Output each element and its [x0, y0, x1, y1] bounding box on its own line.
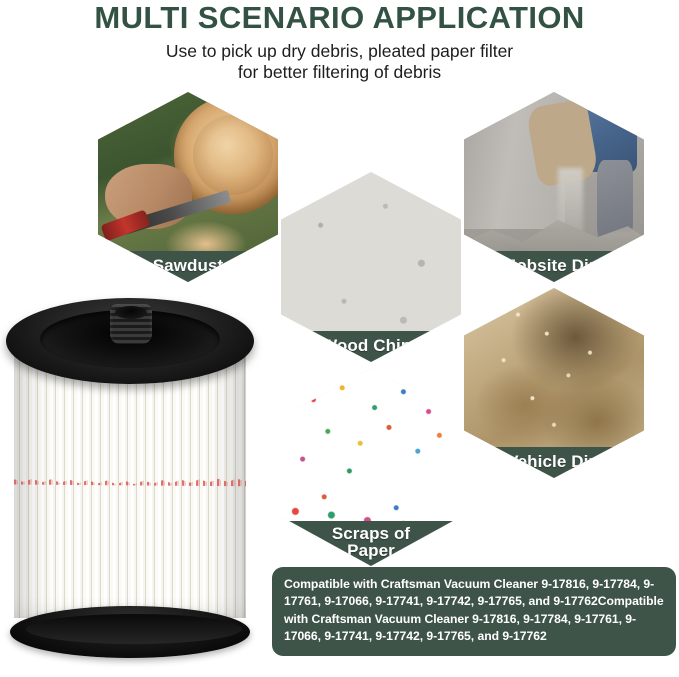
filter-base-cap [10, 606, 250, 658]
sawdust-shavings-shape [148, 217, 278, 282]
hexagon-scraps-of-paper: Scraps of Paper [281, 368, 461, 566]
compatibility-note: Compatible with Craftsman Vacuum Cleaner… [272, 567, 676, 656]
hexagon-label-scraps-of-paper: Scraps of Paper [281, 521, 461, 566]
hexagon-label-sawdust: Sawdust [98, 251, 278, 282]
hexagon-jobsite-dirt: Jobsite Dirt [464, 92, 644, 282]
filter-base-lip [26, 614, 242, 644]
hexagon-vehicle-dirt: Vehicle Dirt [464, 288, 644, 478]
filter-top-cap [6, 298, 254, 384]
hexagon-label-jobsite-dirt: Jobsite Dirt [464, 251, 644, 282]
hexagon-label-vehicle-dirt: Vehicle Dirt [464, 447, 644, 478]
vacuum-filter-product-image [6, 296, 254, 658]
hexagon-label-wood-chips: Wood Chips [281, 331, 461, 362]
hexagon-wood-chips: Wood Chips [281, 172, 461, 362]
filter-threaded-port [110, 304, 152, 344]
hexagon-sawdust: Sawdust [98, 92, 278, 282]
